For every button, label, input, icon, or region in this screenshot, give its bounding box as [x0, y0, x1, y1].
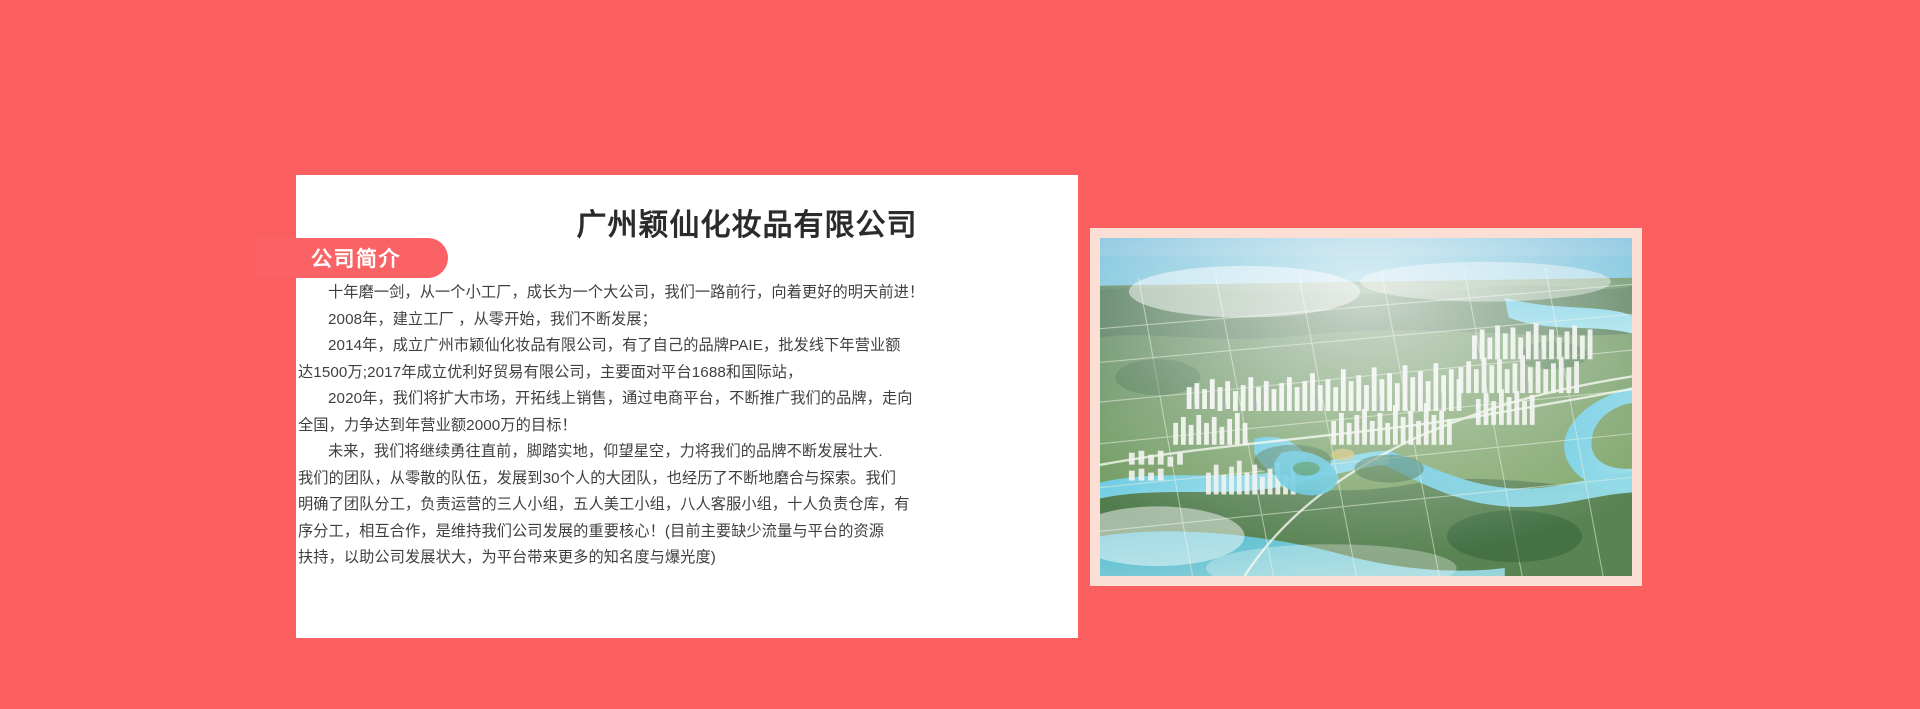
- section-badge-label: 公司简介: [256, 238, 448, 278]
- page-background: 广州颖仙化妆品有限公司 公司简介 十年磨一剑，从一个小工厂，成长为一个大公司，我…: [0, 0, 1920, 709]
- profile-line: 2008年，建立工厂 ，从零开始，我们不断发展；: [298, 307, 898, 334]
- profile-line: 未来，我们将继续勇往直前，脚踏实地，仰望星空，力将我们的品牌不断发展壮大.: [298, 439, 898, 466]
- profile-line: 2014年，成立广州市颖仙化妆品有限公司，有了自己的品牌PAIE，批发线下年营业…: [298, 333, 898, 360]
- photo-frame: [1090, 228, 1642, 586]
- profile-line: 序分工，相互合作，是维持我们公司发展的重要核心！(目前主要缺少流量与平台的资源: [298, 519, 898, 546]
- aerial-city-rendering-image: [1100, 238, 1632, 576]
- profile-line: 十年磨一剑，从一个小工厂，成长为一个大公司，我们一路前行，向着更好的明天前进！: [298, 280, 898, 307]
- profile-line: 全国，力争达到年营业额2000万的目标！: [298, 413, 898, 440]
- aerial-city-illustration: [1100, 238, 1632, 576]
- profile-line: 扶持，以助公司发展状大，为平台带来更多的知名度与爆光度): [298, 545, 898, 572]
- section-badge: 公司简介: [256, 238, 448, 278]
- profile-line: 2020年，我们将扩大市场，开拓线上销售，通过电商平台，不断推广我们的品牌，走向: [298, 386, 898, 413]
- company-profile-text: 十年磨一剑，从一个小工厂，成长为一个大公司，我们一路前行，向着更好的明天前进！2…: [298, 280, 898, 572]
- profile-line: 我们的团队，从零散的队伍，发展到30个人的大团队，也经历了不断地磨合与探索。我们: [298, 466, 898, 493]
- profile-line: 明确了团队分工，负责运营的三人小组，五人美工小组，八人客服小组，十人负责仓库，有: [298, 492, 898, 519]
- profile-line: 达1500万;2017年成立优利好贸易有限公司，主要面对平台1688和国际站，: [298, 360, 898, 387]
